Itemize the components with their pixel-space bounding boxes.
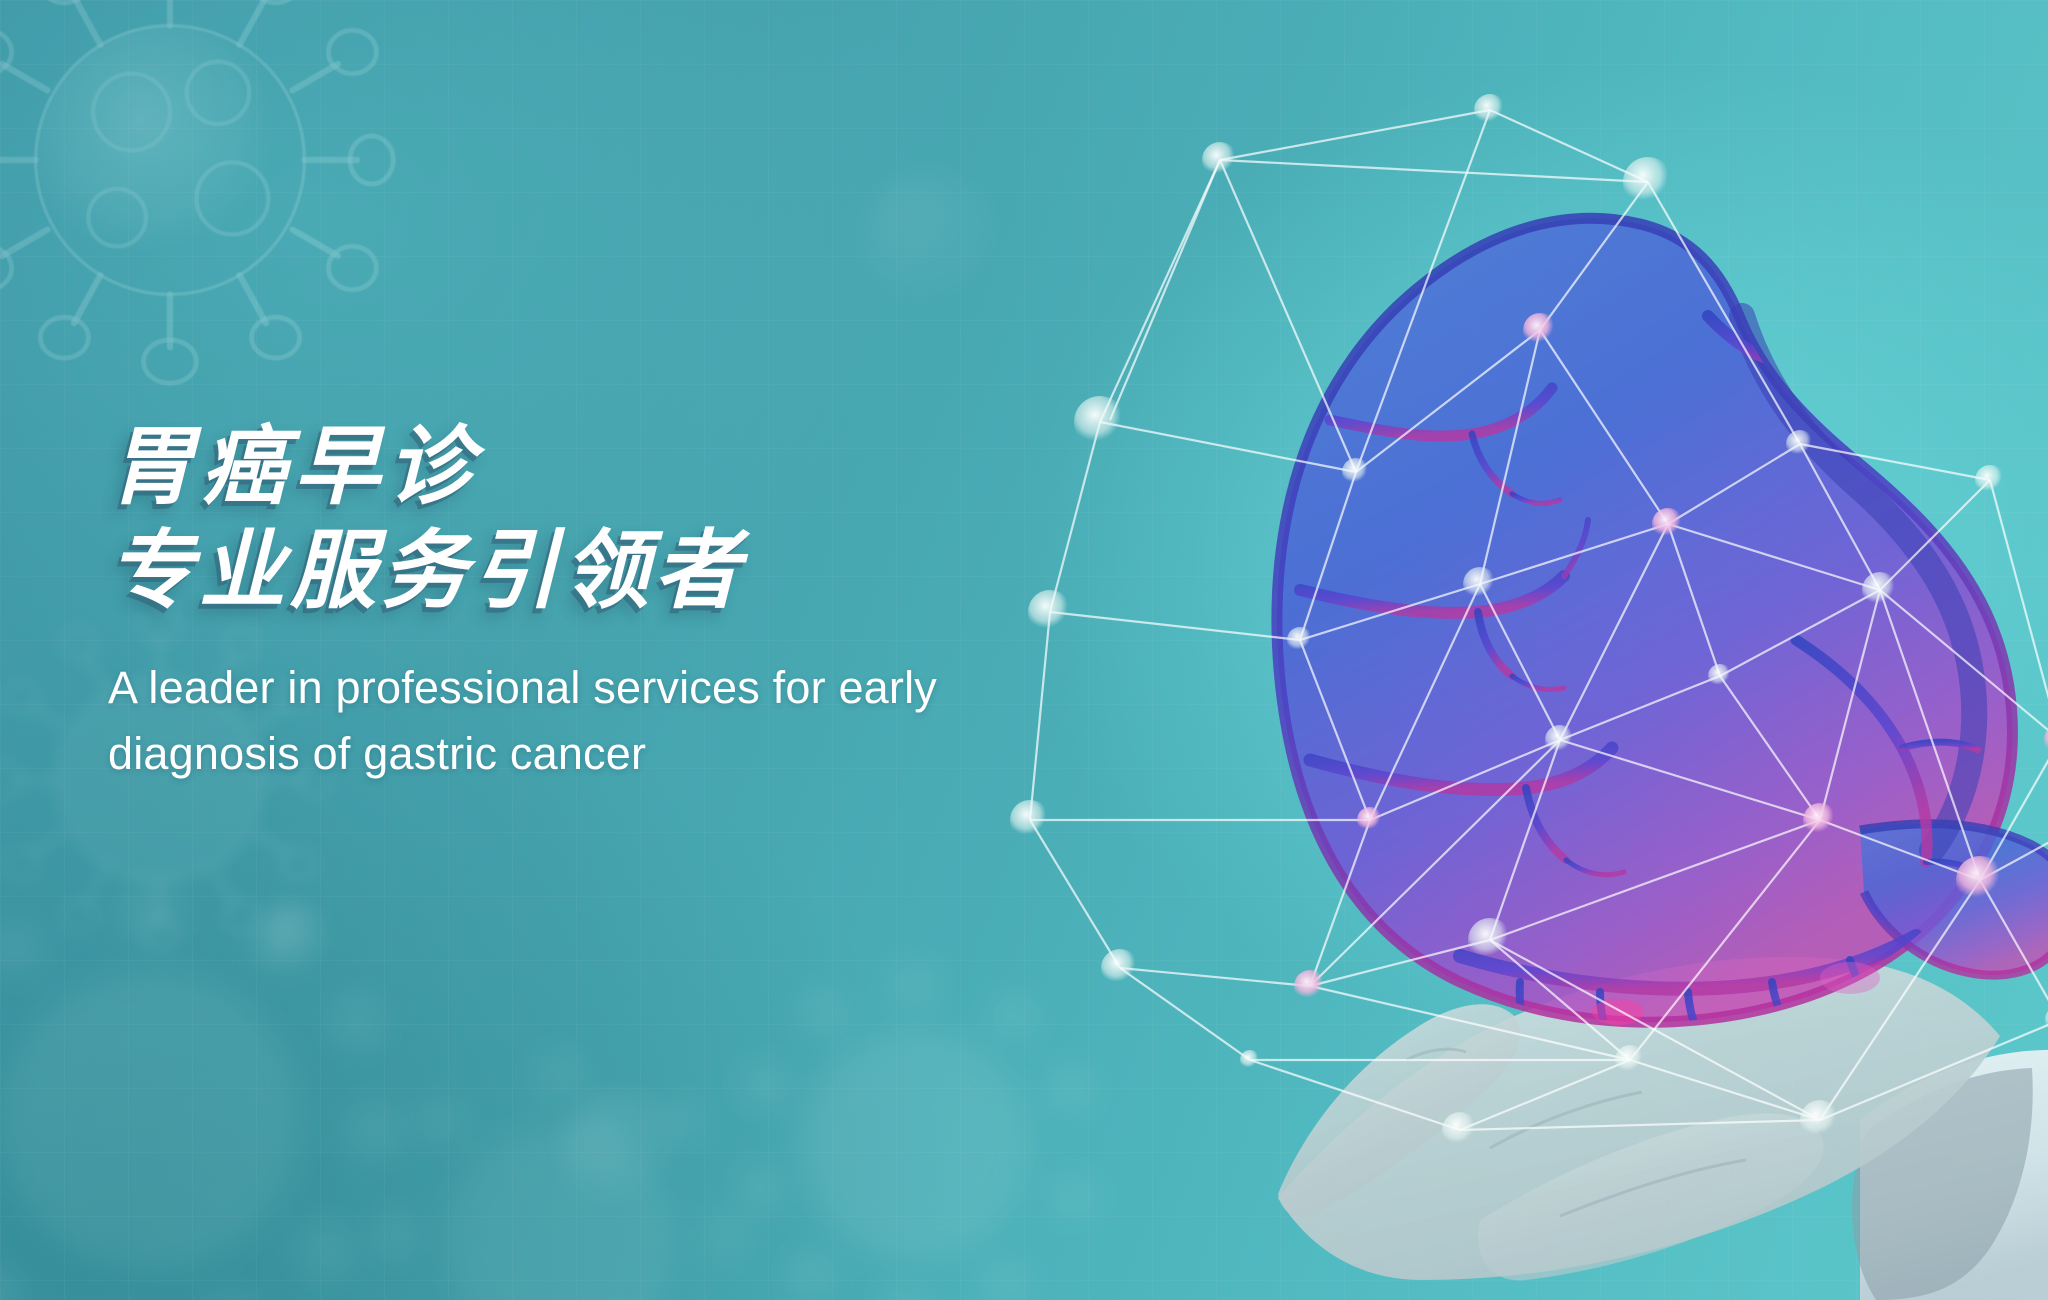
hero-banner: 胃癌早诊 专业服务引领者 A leader in professional se… <box>0 0 2048 1300</box>
stomach-organ <box>1277 218 2048 1066</box>
virus-particle-top-left <box>0 0 410 400</box>
page-subtitle: A leader in professional services for ea… <box>108 655 1108 787</box>
bokeh-circle-2 <box>560 1090 680 1210</box>
hand-holding-stomach-illustration <box>1160 120 2048 1300</box>
headline-line-1: 胃癌早诊 <box>108 415 1108 519</box>
bokeh-circle-3 <box>860 170 1000 310</box>
hero-copy: 胃癌早诊 专业服务引领者 A leader in professional se… <box>108 415 1108 787</box>
subheadline-line-2: diagnosis of gastric cancer <box>108 721 1108 787</box>
bokeh-circle-1 <box>260 900 330 970</box>
subheadline-line-1: A leader in professional services for ea… <box>108 655 1108 721</box>
page-title: 胃癌早诊 专业服务引领者 <box>108 415 1108 623</box>
headline-line-2: 专业服务引领者 <box>108 519 1108 623</box>
